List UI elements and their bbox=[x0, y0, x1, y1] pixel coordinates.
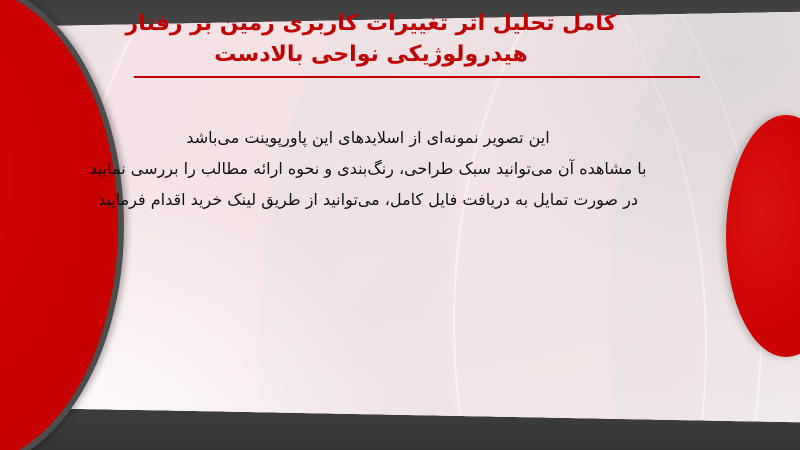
slide-title-line-2: هیدرولوژیکی نواحی بالادست bbox=[0, 39, 742, 70]
slide-body-line-2: با مشاهده آن می‌توانید سبک طراحی، رنگ‌بن… bbox=[0, 153, 736, 184]
slide-body-text: این تصویر نمونه‌ای از اسلایدهای این پاور… bbox=[0, 122, 736, 215]
slide-body-line-1: این تصویر نمونه‌ای از اسلایدهای این پاور… bbox=[0, 122, 736, 153]
slide-title: کامل تحلیل اثر تغییرات کاربری زمین بر رف… bbox=[0, 8, 742, 70]
title-divider-rule bbox=[134, 76, 700, 78]
slide-canvas: کامل تحلیل اثر تغییرات کاربری زمین بر رف… bbox=[0, 0, 800, 450]
slide-body-line-3: در صورت تمایل به دریافت فایل کامل، می‌تو… bbox=[0, 184, 736, 215]
slide-content-panel bbox=[18, 11, 800, 429]
slide-title-line-1: کامل تحلیل اثر تغییرات کاربری زمین بر رف… bbox=[0, 8, 742, 39]
